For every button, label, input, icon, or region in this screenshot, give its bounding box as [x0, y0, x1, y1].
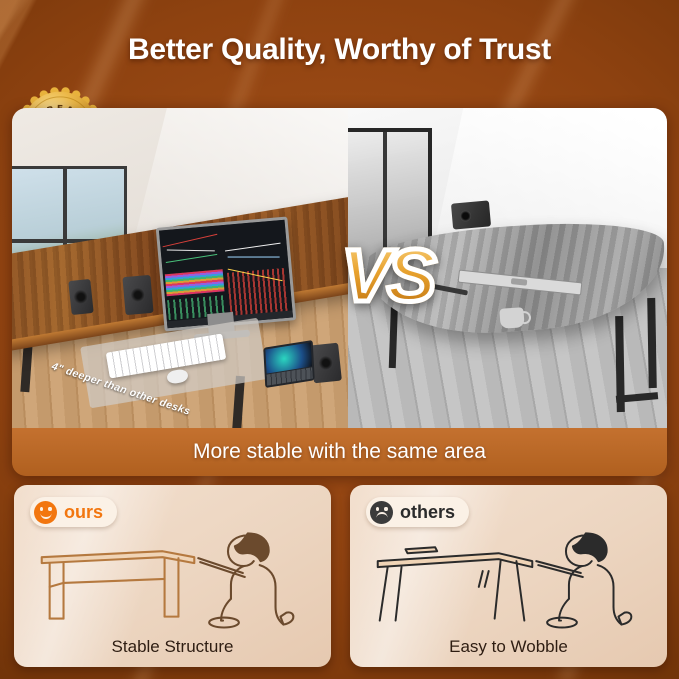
comparison-caption: More stable with the same area	[193, 440, 486, 464]
badge-ours-label: ours	[64, 502, 103, 523]
card-others: others	[350, 485, 667, 667]
card-ours-caption: Stable Structure	[14, 637, 331, 657]
feature-cards: ours	[14, 485, 667, 667]
versus-label: VS	[333, 234, 441, 318]
card-ours: ours	[14, 485, 331, 667]
poster-canvas: Better Quality, Worthy of Trust	[0, 0, 679, 679]
tablet-device	[263, 340, 314, 388]
speaker-center	[122, 275, 153, 315]
card-others-caption: Easy to Wobble	[350, 637, 667, 657]
page-title: Better Quality, Worthy of Trust	[0, 33, 679, 67]
speaker-left	[68, 279, 93, 315]
photo-ours: 4" deeper than other desks	[12, 108, 348, 436]
badge-others-label: others	[400, 502, 455, 523]
others-leg-back-right	[647, 298, 657, 388]
speaker-gray	[451, 200, 491, 229]
speaker-right	[310, 343, 342, 384]
stable-desk-illustration	[14, 521, 331, 629]
wobbly-desk-illustration	[350, 521, 667, 629]
comparison-caption-band: More stable with the same area	[12, 428, 667, 476]
mug	[499, 307, 524, 329]
